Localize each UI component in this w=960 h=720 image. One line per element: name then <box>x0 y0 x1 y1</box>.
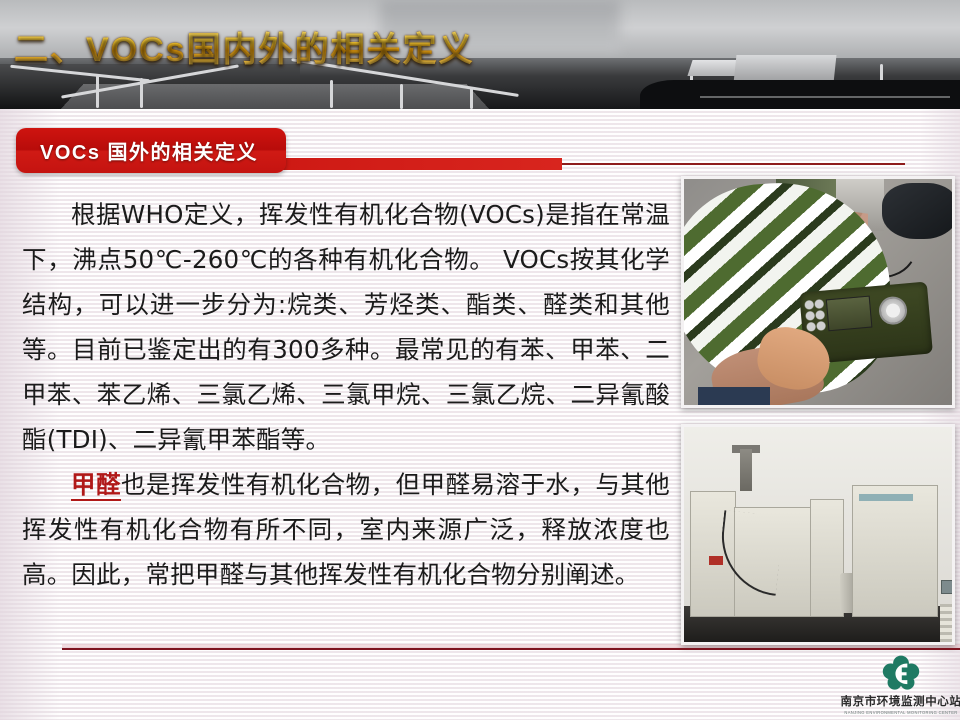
section-banner-label: VOCs 国外的相关定义 <box>40 136 258 165</box>
logo-name-cn: 南京市环境监测中心站 <box>841 693 960 709</box>
photo-red-label <box>709 556 723 565</box>
paragraph-1: 根据WHO定义，挥发性有机化合物(VOCs)是指在常温下，沸点50℃-260℃的… <box>22 192 670 462</box>
photo-control-display <box>941 580 955 594</box>
photo-control-keypad <box>940 604 955 645</box>
photo-railing-post-4 <box>400 84 403 109</box>
analyzer-display <box>826 296 873 332</box>
analyzer-dpad <box>878 295 908 325</box>
highlight-term: 甲醛 <box>71 470 121 501</box>
photo-walkway-deck <box>60 84 490 109</box>
clover-logo-icon <box>882 654 920 692</box>
analyzer-keypad <box>804 299 828 333</box>
photo-trousers <box>698 387 770 408</box>
photo-autosampler-column <box>740 449 752 491</box>
photo-railing-post-1 <box>96 74 99 108</box>
body-content: 根据WHO定义，挥发性有机化合物(VOCs)是指在常温下，沸点50℃-260℃的… <box>22 192 670 597</box>
photo-mass-spectrometer-cabinet <box>852 485 938 617</box>
laboratory-instrument-photo <box>681 424 955 645</box>
photo-railing-post-3 <box>330 80 333 108</box>
field-sampling-photo <box>681 176 955 408</box>
photo-vessel-hull <box>640 80 960 109</box>
organization-logo: 南京市环境监测中心站 NANJING ENVIRONMENTAL MONITOR… <box>845 654 957 716</box>
photo-cabinet-label-band <box>859 494 913 501</box>
page-title: 二、VOCs国内外的相关定义 <box>14 22 475 71</box>
footer-rule <box>62 648 960 650</box>
photo-railing-post-2 <box>140 78 143 108</box>
logo-name-en: NANJING ENVIRONMENTAL MONITORING CENTER <box>844 710 957 715</box>
paragraph-2: 甲醛也是挥发性有机化合物，但甲醛易溶于水，与其他挥发性有机化合物有所不同，室内来… <box>22 462 670 597</box>
photo-railing-post-5 <box>470 88 473 109</box>
photo-backpack <box>882 183 955 239</box>
photo-vessel-cabin <box>734 55 837 83</box>
section-banner: VOCs 国外的相关定义 <box>16 128 286 173</box>
presentation-slide: 二、VOCs国内外的相关定义 二、VOCs国内外的相关定义 VOCs 国外的相关… <box>0 0 960 720</box>
photo-control-panel <box>810 499 844 617</box>
photo-vessel-waterline <box>700 96 950 98</box>
